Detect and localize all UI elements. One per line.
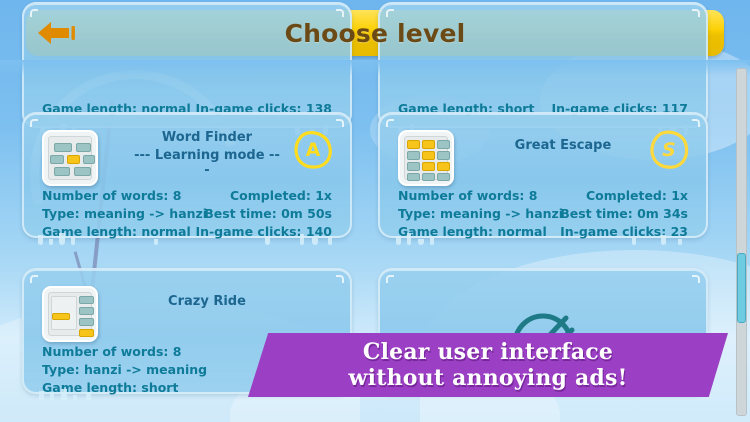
app-root: Choose level Game length: normal In-game… — [0, 0, 750, 422]
card-corner — [386, 275, 394, 283]
card-game-length: Game length: normal — [42, 224, 191, 239]
promo-line-1: Clear user interface — [363, 339, 613, 365]
card-corner — [336, 275, 344, 283]
card-number-of-words: Number of words: 8 — [42, 188, 181, 203]
card-type: Type: hanzi -> meaning — [42, 362, 207, 377]
card-game-length: Game length: short — [42, 380, 178, 395]
card-corner — [692, 9, 700, 17]
card-corner — [30, 119, 38, 127]
word-finder-icon — [42, 130, 98, 186]
card-completed: Completed: 1x — [230, 188, 332, 203]
scrollbar-thumb[interactable] — [737, 253, 746, 323]
level-card-word-finder[interactable]: Word Finder --- Learning mode --- A Numb… — [22, 112, 352, 238]
card-best-time: Best time: 0m 34s — [560, 206, 688, 221]
card-completed: Completed: 1x — [586, 188, 688, 203]
card-type: Type: meaning -> hanzi — [398, 206, 563, 221]
card-corner — [386, 9, 394, 17]
crazy-ride-icon — [42, 286, 98, 342]
promo-line-2: without annoying ads! — [349, 365, 628, 391]
card-corner — [692, 119, 700, 127]
card-number-of-words: Number of words: 8 — [42, 344, 181, 359]
back-arrow-icon — [36, 20, 78, 46]
card-corner — [336, 9, 344, 17]
card-number-of-words: Number of words: 8 — [398, 188, 537, 203]
vertical-scrollbar[interactable] — [736, 68, 747, 416]
promo-banner: Clear user interface without annoying ad… — [248, 333, 728, 397]
card-ingame-clicks: In-game clicks: 23 — [560, 224, 688, 239]
card-best-time: Best time: 0m 50s — [204, 206, 332, 221]
card-ingame-clicks: In-game clicks: 140 — [195, 224, 332, 239]
card-type: Type: meaning -> hanzi — [42, 206, 207, 221]
grade-letter: A — [306, 139, 321, 161]
card-title: Word Finder — [134, 130, 280, 145]
great-escape-icon — [398, 130, 454, 186]
level-card-great-escape[interactable]: Great Escape S Number of words: 8 Type: … — [378, 112, 708, 238]
card-corner — [30, 275, 38, 283]
card-title: Great Escape — [490, 138, 636, 153]
grade-letter: S — [662, 139, 676, 161]
card-game-length: Game length: normal — [398, 224, 547, 239]
card-corner — [336, 119, 344, 127]
card-title: Crazy Ride — [134, 294, 280, 309]
grade-badge-a: A — [290, 126, 336, 172]
card-corner — [692, 275, 700, 283]
page-title: Choose level — [26, 19, 724, 48]
back-button[interactable] — [26, 10, 88, 56]
card-subtitle: --- Learning mode --- — [134, 148, 280, 178]
grade-badge-s: S — [646, 126, 692, 172]
card-corner — [386, 119, 394, 127]
